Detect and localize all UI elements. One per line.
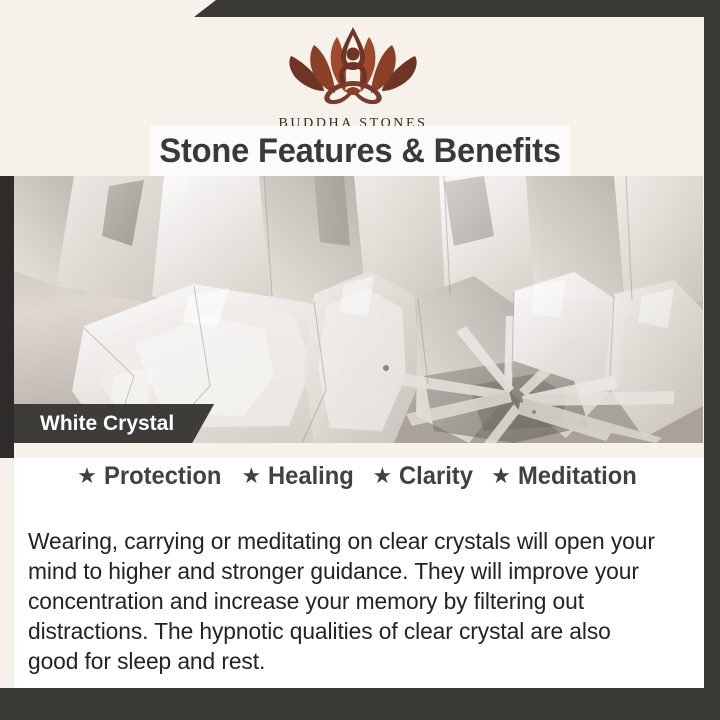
benefit-label-protection: Protection	[104, 462, 221, 491]
benefits-row: ★ Protection ★ Healing ★ Clarity ★ Medit…	[14, 462, 706, 491]
benefit-label-healing: Healing	[268, 462, 354, 491]
photo-caption-label: White Crystal	[40, 412, 174, 436]
infographic-page: BUDDHA STONES Stone Features & Benefits	[0, 0, 720, 720]
lotus-meditation-figure-icon	[279, 25, 427, 114]
page-title-banner: Stone Features & Benefits	[150, 126, 570, 176]
brand-logo: BUDDHA STONES	[0, 25, 706, 132]
frame-bottom-bar	[0, 688, 706, 720]
frame-right-bar	[704, 0, 720, 720]
star-icon: ★	[373, 465, 393, 487]
benefit-label-meditation: Meditation	[518, 462, 637, 491]
star-icon: ★	[77, 465, 97, 487]
photo-caption-banner: White Crystal	[14, 404, 214, 443]
benefit-item-meditation: ★ Meditation	[491, 462, 643, 491]
crystal-photo	[14, 176, 703, 443]
benefit-label-clarity: Clarity	[399, 462, 473, 491]
benefit-item-protection: ★ Protection	[77, 462, 227, 491]
star-icon: ★	[491, 465, 511, 487]
page-title: Stone Features & Benefits	[159, 132, 560, 171]
benefit-item-healing: ★ Healing	[242, 462, 359, 491]
description-text: Wearing, carrying or meditating on clear…	[28, 526, 659, 676]
star-icon: ★	[242, 465, 262, 487]
header: BUDDHA STONES Stone Features & Benefits	[0, 17, 706, 176]
frame-top-bar	[194, 0, 720, 17]
benefit-item-clarity: ★ Clarity	[373, 462, 478, 491]
frame-left-bar	[0, 176, 14, 458]
